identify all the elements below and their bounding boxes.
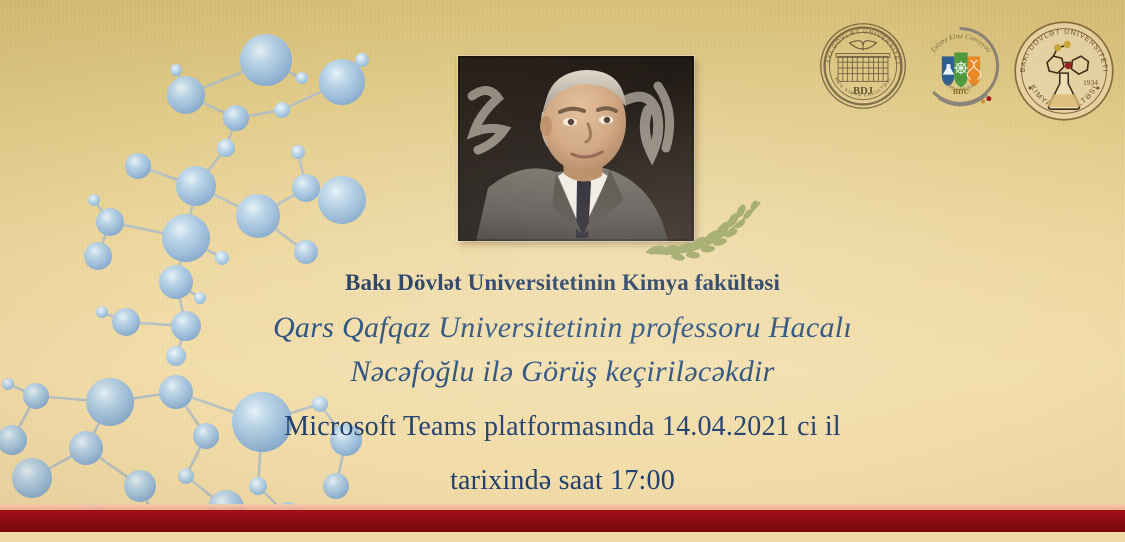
event-details-line-2: tarixində saat 17:00	[0, 461, 1125, 501]
bottom-red-bar	[0, 510, 1125, 532]
baku-state-university-seal-logo: BAKI DÖVLƏT UNIVERSITETI BDU KIMYA FAKUL…	[815, 18, 911, 114]
svg-text:BDJ: BDJ	[853, 86, 873, 97]
svg-text:1934: 1934	[1083, 78, 1098, 87]
speaker-portrait	[458, 56, 694, 241]
svg-text:BDU: BDU	[953, 87, 970, 96]
chemistry-faculty-seal-logo: BAKI DÖVLƏT UNIVERSITETI KIMYA FAKULTƏSI…	[1011, 18, 1117, 124]
event-title-line-1: Qars Qafqaz Universitetinin professoru H…	[0, 306, 1125, 350]
announcement-text-block: Bakı Dövlət Universitetinin Kimya fakült…	[0, 270, 1125, 501]
bottom-footer-strip	[0, 532, 1125, 542]
student-scientific-society-logo: Tələbə Elmi Cəmiyyəti	[913, 18, 1009, 114]
faculty-line: Bakı Dövlət Universitetinin Kimya fakült…	[0, 270, 1125, 296]
event-announcement-poster: BAKI DÖVLƏT UNIVERSITETI BDU KIMYA FAKUL…	[0, 0, 1125, 542]
event-details-line-1: Microsoft Teams platformasında 14.04.202…	[0, 407, 1125, 447]
event-title-line-2: Nəcəfoğlu ilə Görüş keçiriləcəkdir	[0, 350, 1125, 394]
logo-row: BAKI DÖVLƏT UNIVERSITETI BDU KIMYA FAKUL…	[815, 18, 1117, 124]
